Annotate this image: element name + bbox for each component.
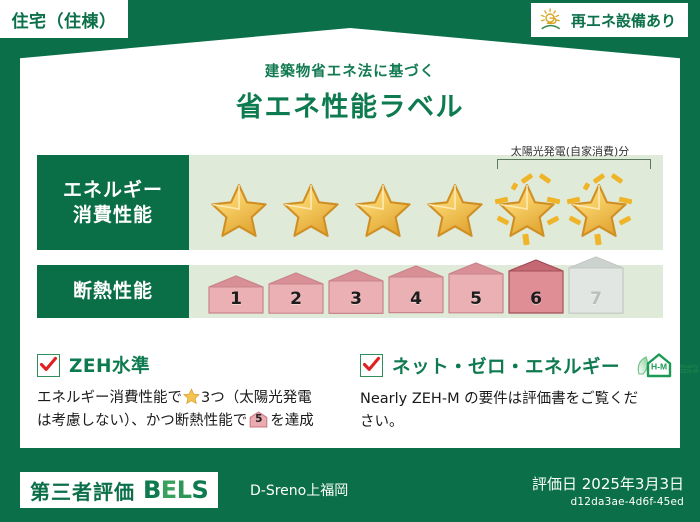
evaluation-info: 評価日 2025年3月3日 d12da3ae-4d6f-45ed bbox=[532, 473, 684, 508]
insulation-performance-row: 断熱性能 1 2 3 4 5 bbox=[37, 265, 663, 318]
svg-text:H-M: H-M bbox=[651, 362, 667, 372]
inline-house-badge: 5 bbox=[249, 411, 268, 428]
star-icon bbox=[211, 182, 267, 238]
insulation-level-1: 1 bbox=[207, 275, 265, 315]
bels-wordmark: BELS bbox=[143, 476, 208, 504]
solar-bracket bbox=[497, 159, 651, 169]
insulation-level-6: 6 bbox=[507, 259, 565, 315]
label-heading: 建築物省エネ法に基づく 省エネ性能ラベル bbox=[0, 60, 700, 124]
bels-certification-mark: 第三者評価 BELS bbox=[20, 472, 218, 508]
zeh-m-caption-line2: ZEH-M bbox=[680, 369, 698, 375]
energy-caption-line2: 消費性能 bbox=[63, 203, 163, 227]
zeh-checkbox bbox=[37, 354, 60, 377]
property-name: D-Sreno上福岡 bbox=[250, 480, 348, 500]
insulation-level-number: 4 bbox=[410, 289, 422, 315]
insulation-caption: 断熱性能 bbox=[37, 265, 189, 318]
net-zero-criterion: ネット・ゼロ・エネルギー H-M Nearly bbox=[350, 352, 663, 435]
check-icon bbox=[39, 355, 58, 374]
insulation-level-7: 7 bbox=[567, 256, 625, 315]
zeh-title: ZEH水準 bbox=[69, 352, 150, 378]
insulation-level-number: 5 bbox=[470, 289, 482, 315]
heading-subtitle: 建築物省エネ法に基づく bbox=[0, 60, 700, 81]
bels-jp-label: 第三者評価 bbox=[30, 476, 135, 505]
insulation-level-3: 3 bbox=[327, 269, 385, 315]
insulation-level-number: 3 bbox=[350, 289, 362, 315]
energy-performance-row: エネルギー 消費性能 太陽光発電(自家消費)分 bbox=[37, 155, 663, 250]
heading-title: 省エネ性能ラベル bbox=[0, 85, 700, 124]
evaluation-id: d12da3ae-4d6f-45ed bbox=[532, 496, 684, 508]
energy-star-rating bbox=[203, 173, 657, 246]
energy-star bbox=[347, 174, 419, 246]
star-icon bbox=[427, 182, 483, 238]
star-icon bbox=[571, 182, 627, 238]
star-icon bbox=[499, 182, 555, 238]
renewable-energy-badge: 再エネ設備あり bbox=[531, 3, 688, 37]
solar-sun-icon bbox=[539, 7, 565, 33]
energy-performance-caption: エネルギー 消費性能 bbox=[37, 155, 189, 250]
insulation-level-4: 4 bbox=[387, 265, 445, 315]
zeh-text-c: を達成 bbox=[270, 413, 314, 429]
net-zero-checkbox bbox=[360, 354, 383, 377]
energy-star-solar bbox=[491, 174, 563, 246]
solar-bracket-label: 太陽光発電(自家消費)分 bbox=[485, 143, 655, 159]
zeh-description: エネルギー消費性能で3つ（太陽光発電 は考慮しない）、かつ断熱性能で5を達成 bbox=[37, 387, 338, 434]
inline-house-number: 5 bbox=[249, 411, 268, 428]
renewable-badge-label: 再エネ設備あり bbox=[571, 10, 676, 31]
net-zero-description: Nearly ZEH-M の要件は評価書をご覧ください。 bbox=[360, 388, 651, 435]
check-icon bbox=[362, 355, 381, 374]
bels-letter-e: E bbox=[161, 476, 177, 504]
zeh-m-house-icon: H-M bbox=[635, 352, 679, 379]
energy-performance-body: 太陽光発電(自家消費)分 bbox=[189, 155, 663, 250]
bels-letter-l: L bbox=[177, 476, 192, 504]
star-icon bbox=[355, 182, 411, 238]
nearly-zeh-m-logo: H-M Nearly ZEH-M bbox=[635, 352, 698, 379]
bels-letter-s: S bbox=[192, 476, 209, 504]
zeh-criterion: ZEH水準 エネルギー消費性能で3つ（太陽光発電 は考慮しない）、かつ断熱性能で… bbox=[37, 352, 350, 435]
zeh-text-b: は考慮しない）、かつ断熱性能で bbox=[37, 413, 247, 429]
insulation-level-scale: 1 2 3 4 5 6 7 bbox=[207, 268, 657, 315]
inline-star-icon bbox=[183, 388, 200, 405]
insulation-level-number: 7 bbox=[590, 289, 602, 315]
net-zero-title: ネット・ゼロ・エネルギー bbox=[392, 353, 620, 379]
energy-star bbox=[419, 174, 491, 246]
zeh-m-logo-caption: Nearly ZEH-M bbox=[680, 365, 698, 380]
evaluation-date: 評価日 2025年3月3日 bbox=[532, 473, 684, 494]
insulation-level-2: 2 bbox=[267, 272, 325, 315]
star-icon bbox=[283, 182, 339, 238]
energy-star bbox=[275, 174, 347, 246]
insulation-level-5: 5 bbox=[447, 262, 505, 315]
energy-performance-label: 住宅（住棟） 再エネ設備あり 建築物省エネ法に基づく 省エネ性能ラベル bbox=[0, 0, 700, 522]
building-type-label: 住宅（住棟） bbox=[12, 7, 117, 32]
zeh-text-a: エネルギー消費性能で bbox=[37, 390, 182, 406]
energy-caption-line1: エネルギー bbox=[63, 178, 163, 202]
energy-star-solar bbox=[563, 174, 635, 246]
zeh-check-row: ZEH水準 bbox=[37, 352, 338, 378]
net-zero-check-row: ネット・ゼロ・エネルギー H-M Nearly bbox=[360, 352, 651, 379]
energy-star bbox=[203, 174, 275, 246]
insulation-level-number: 6 bbox=[530, 289, 542, 315]
insulation-level-number: 1 bbox=[230, 289, 242, 315]
criteria-section: ZEH水準 エネルギー消費性能で3つ（太陽光発電 は考慮しない）、かつ断熱性能で… bbox=[37, 352, 663, 435]
bels-letter-b: B bbox=[143, 476, 161, 504]
insulation-body: 1 2 3 4 5 6 7 bbox=[189, 265, 663, 318]
insulation-level-number: 2 bbox=[290, 289, 302, 315]
zeh-text-star-count: 3つ（太陽光発電 bbox=[201, 390, 312, 406]
building-type-tab: 住宅（住棟） bbox=[0, 0, 128, 38]
